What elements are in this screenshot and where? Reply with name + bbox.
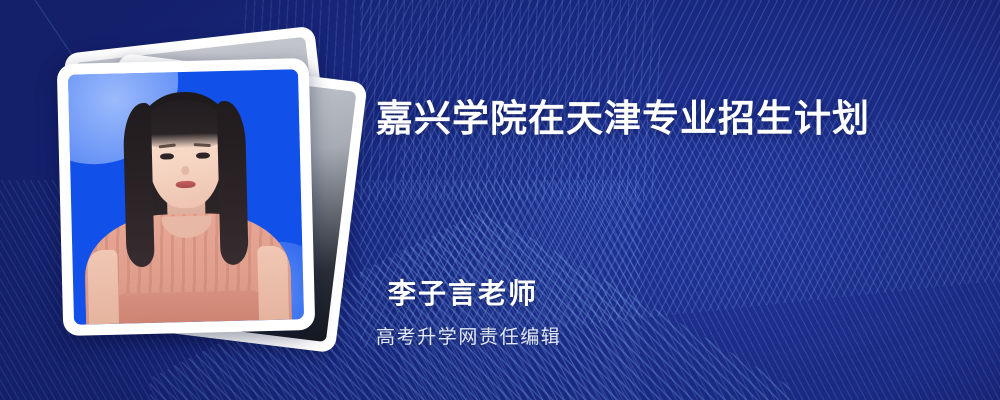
- portrait-figure: [76, 81, 296, 324]
- portrait-arm-right: [257, 246, 289, 321]
- editor-name: 李子言老师: [388, 272, 538, 312]
- editor-portrait-photo: [68, 69, 304, 325]
- portrait-eye-right: [196, 152, 210, 158]
- photo-card-stack: [60, 45, 350, 345]
- banner-headline: 嘉兴学院在天津专业招生计划: [376, 96, 870, 142]
- article-header-banner: 嘉兴学院在天津专业招生计划 李子言老师 高考升学网责任编辑: [0, 0, 1000, 400]
- photo-card-front: [57, 58, 316, 336]
- portrait-mouth: [176, 181, 196, 188]
- portrait-nose: [181, 166, 189, 175]
- portrait-eye-left: [160, 153, 174, 159]
- portrait-hair-front-right: [217, 101, 249, 266]
- editor-role: 高考升学网责任编辑: [376, 322, 561, 349]
- portrait-dress-waist: [113, 290, 264, 324]
- portrait-arm-left: [87, 250, 119, 325]
- portrait-hair-front-left: [123, 103, 155, 268]
- banner-text-block: 嘉兴学院在天津专业招生计划 李子言老师 高考升学网责任编辑: [376, 0, 976, 400]
